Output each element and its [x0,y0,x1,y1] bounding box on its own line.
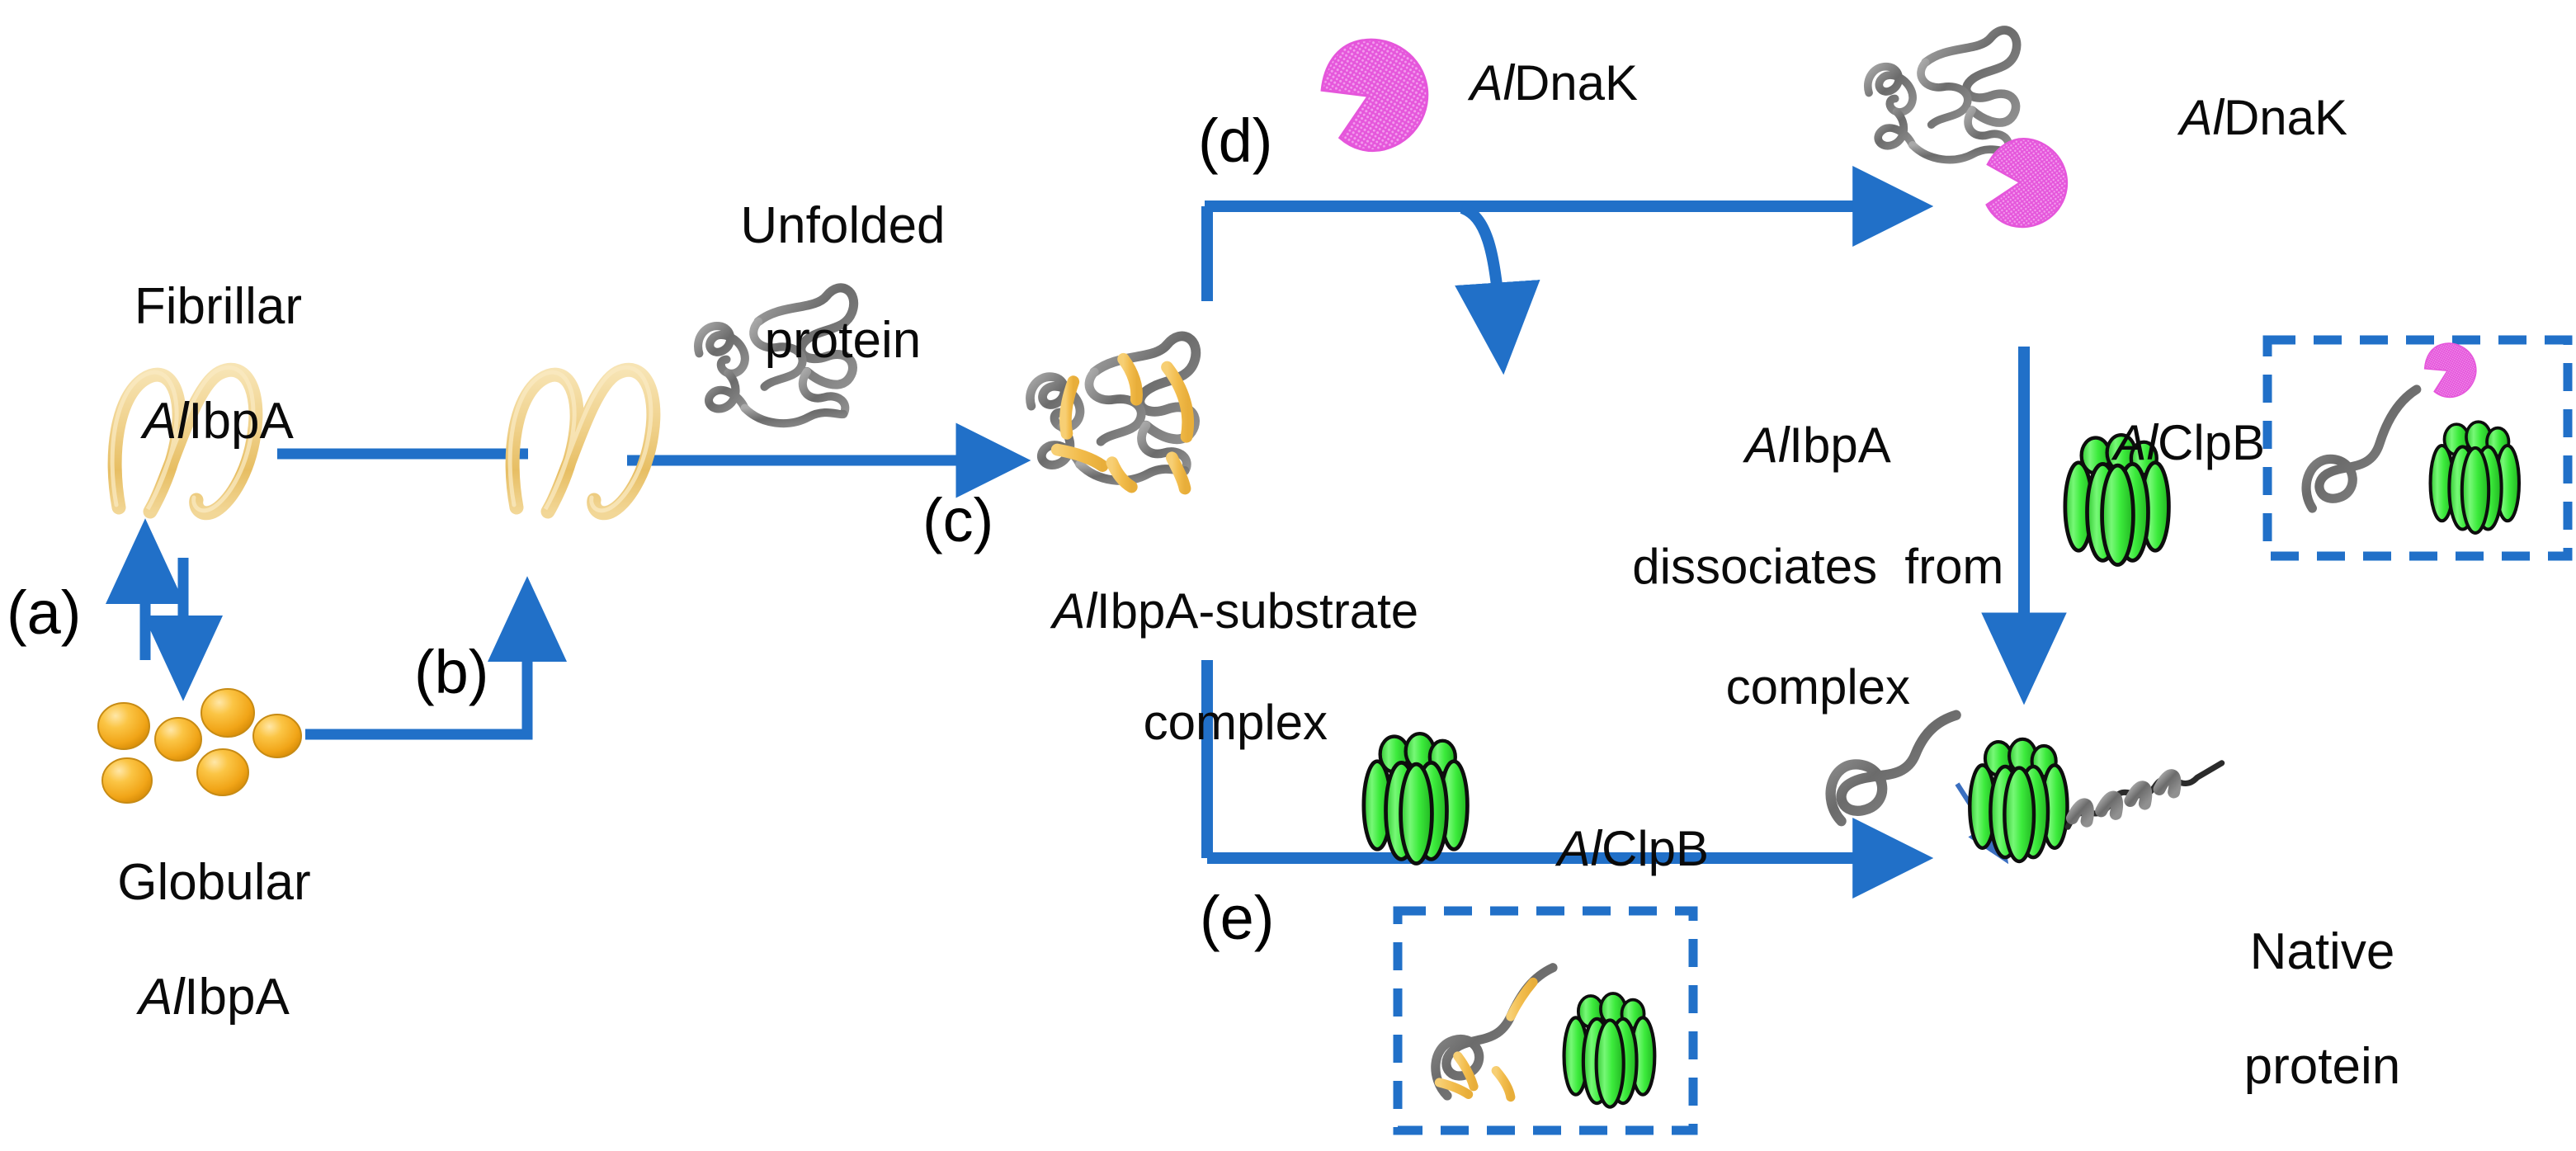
complex-label-line2: complex [1144,695,1328,750]
clpb-right-protein: ClpB [2158,415,2265,470]
clpb-right-label: AlClpB [2038,360,2286,526]
complex-label-species: Al [1053,583,1097,639]
unfolded-protein-label: Unfolded protein [670,140,959,427]
fibrillar-ibpa-label: Fibrillar AlIbpA [58,221,322,507]
clpb-ibpa-substrate-icon [1436,968,1655,1107]
dnak-complex-label: AlDnaK [2112,35,2360,201]
dissociates-line3: complex [1726,659,1910,715]
globular-label-line1: Globular [117,854,310,911]
complex-label-line1: IbpA-substrate [1097,583,1418,639]
native-protein-label: Native protein [2154,866,2434,1151]
clpb-bottom-protein: ClpB [1602,821,1709,876]
thin-blue-arrow [1957,784,1995,843]
fibrillar-ibpa-icon [510,367,653,513]
fibrillar-label-line1: Fibrillar [134,278,302,335]
ibpa-dissociation-label: AlIbpA dissociates from complex [1535,355,2046,777]
dnak-top-protein: DnaK [1514,55,1638,111]
clpb-right-species: Al [2114,415,2158,470]
dissociates-protein: IbpA [1789,417,1890,473]
native-label-line1: Native [2250,923,2395,980]
step-label-b: (b) [414,637,488,707]
dnak-substrate-complex-icon [1868,30,2073,233]
globular-ibpa-spheres-icon [98,689,301,803]
curved-branch-arrow-down [1462,208,1500,322]
globular-label-protein: IbpA [184,969,290,1026]
step-label-a: (a) [7,578,81,648]
clpb-dnak-substrate-icon [2306,337,2519,533]
ibpa-substrate-complex-label: AlIbpA-substrate complex [960,528,1455,805]
unfolded-label-line1: Unfolded [740,197,945,254]
step-label-d: (d) [1198,106,1272,176]
native-label-line2: protein [2244,1038,2401,1095]
dnak-right-protein: DnaK [2224,90,2347,145]
dnak-free-label: AlDnaK [1403,0,1650,167]
dnak-top-species: Al [1470,55,1514,111]
dissociates-species: Al [1745,417,1789,473]
pathway-diagram-canvas: (a) (b) (c) (d) (e) Fibrillar AlIbpA Glo… [0,0,2576,1151]
globular-label-species: Al [139,969,184,1026]
clpb-dnak-substrate-dashed-box [2267,340,2568,556]
ibpa-substrate-complex-icon [1030,336,1196,488]
unfolded-label-line2: protein [765,312,922,369]
fibrillar-label-species: Al [143,393,188,450]
clpb-bottom-label: AlClpB [1482,766,1729,932]
fibrillar-label-protein: IbpA [188,393,294,450]
clpb-ibpa-substrate-dashed-box [1398,911,1693,1130]
globular-ibpa-label: Globular AlIbpA [50,797,322,1083]
dnak-right-species: Al [2180,90,2224,145]
dissociates-line2: dissociates from [1632,539,2003,594]
step-label-e: (e) [1200,883,1274,953]
clpb-bottom-species: Al [1558,821,1602,876]
